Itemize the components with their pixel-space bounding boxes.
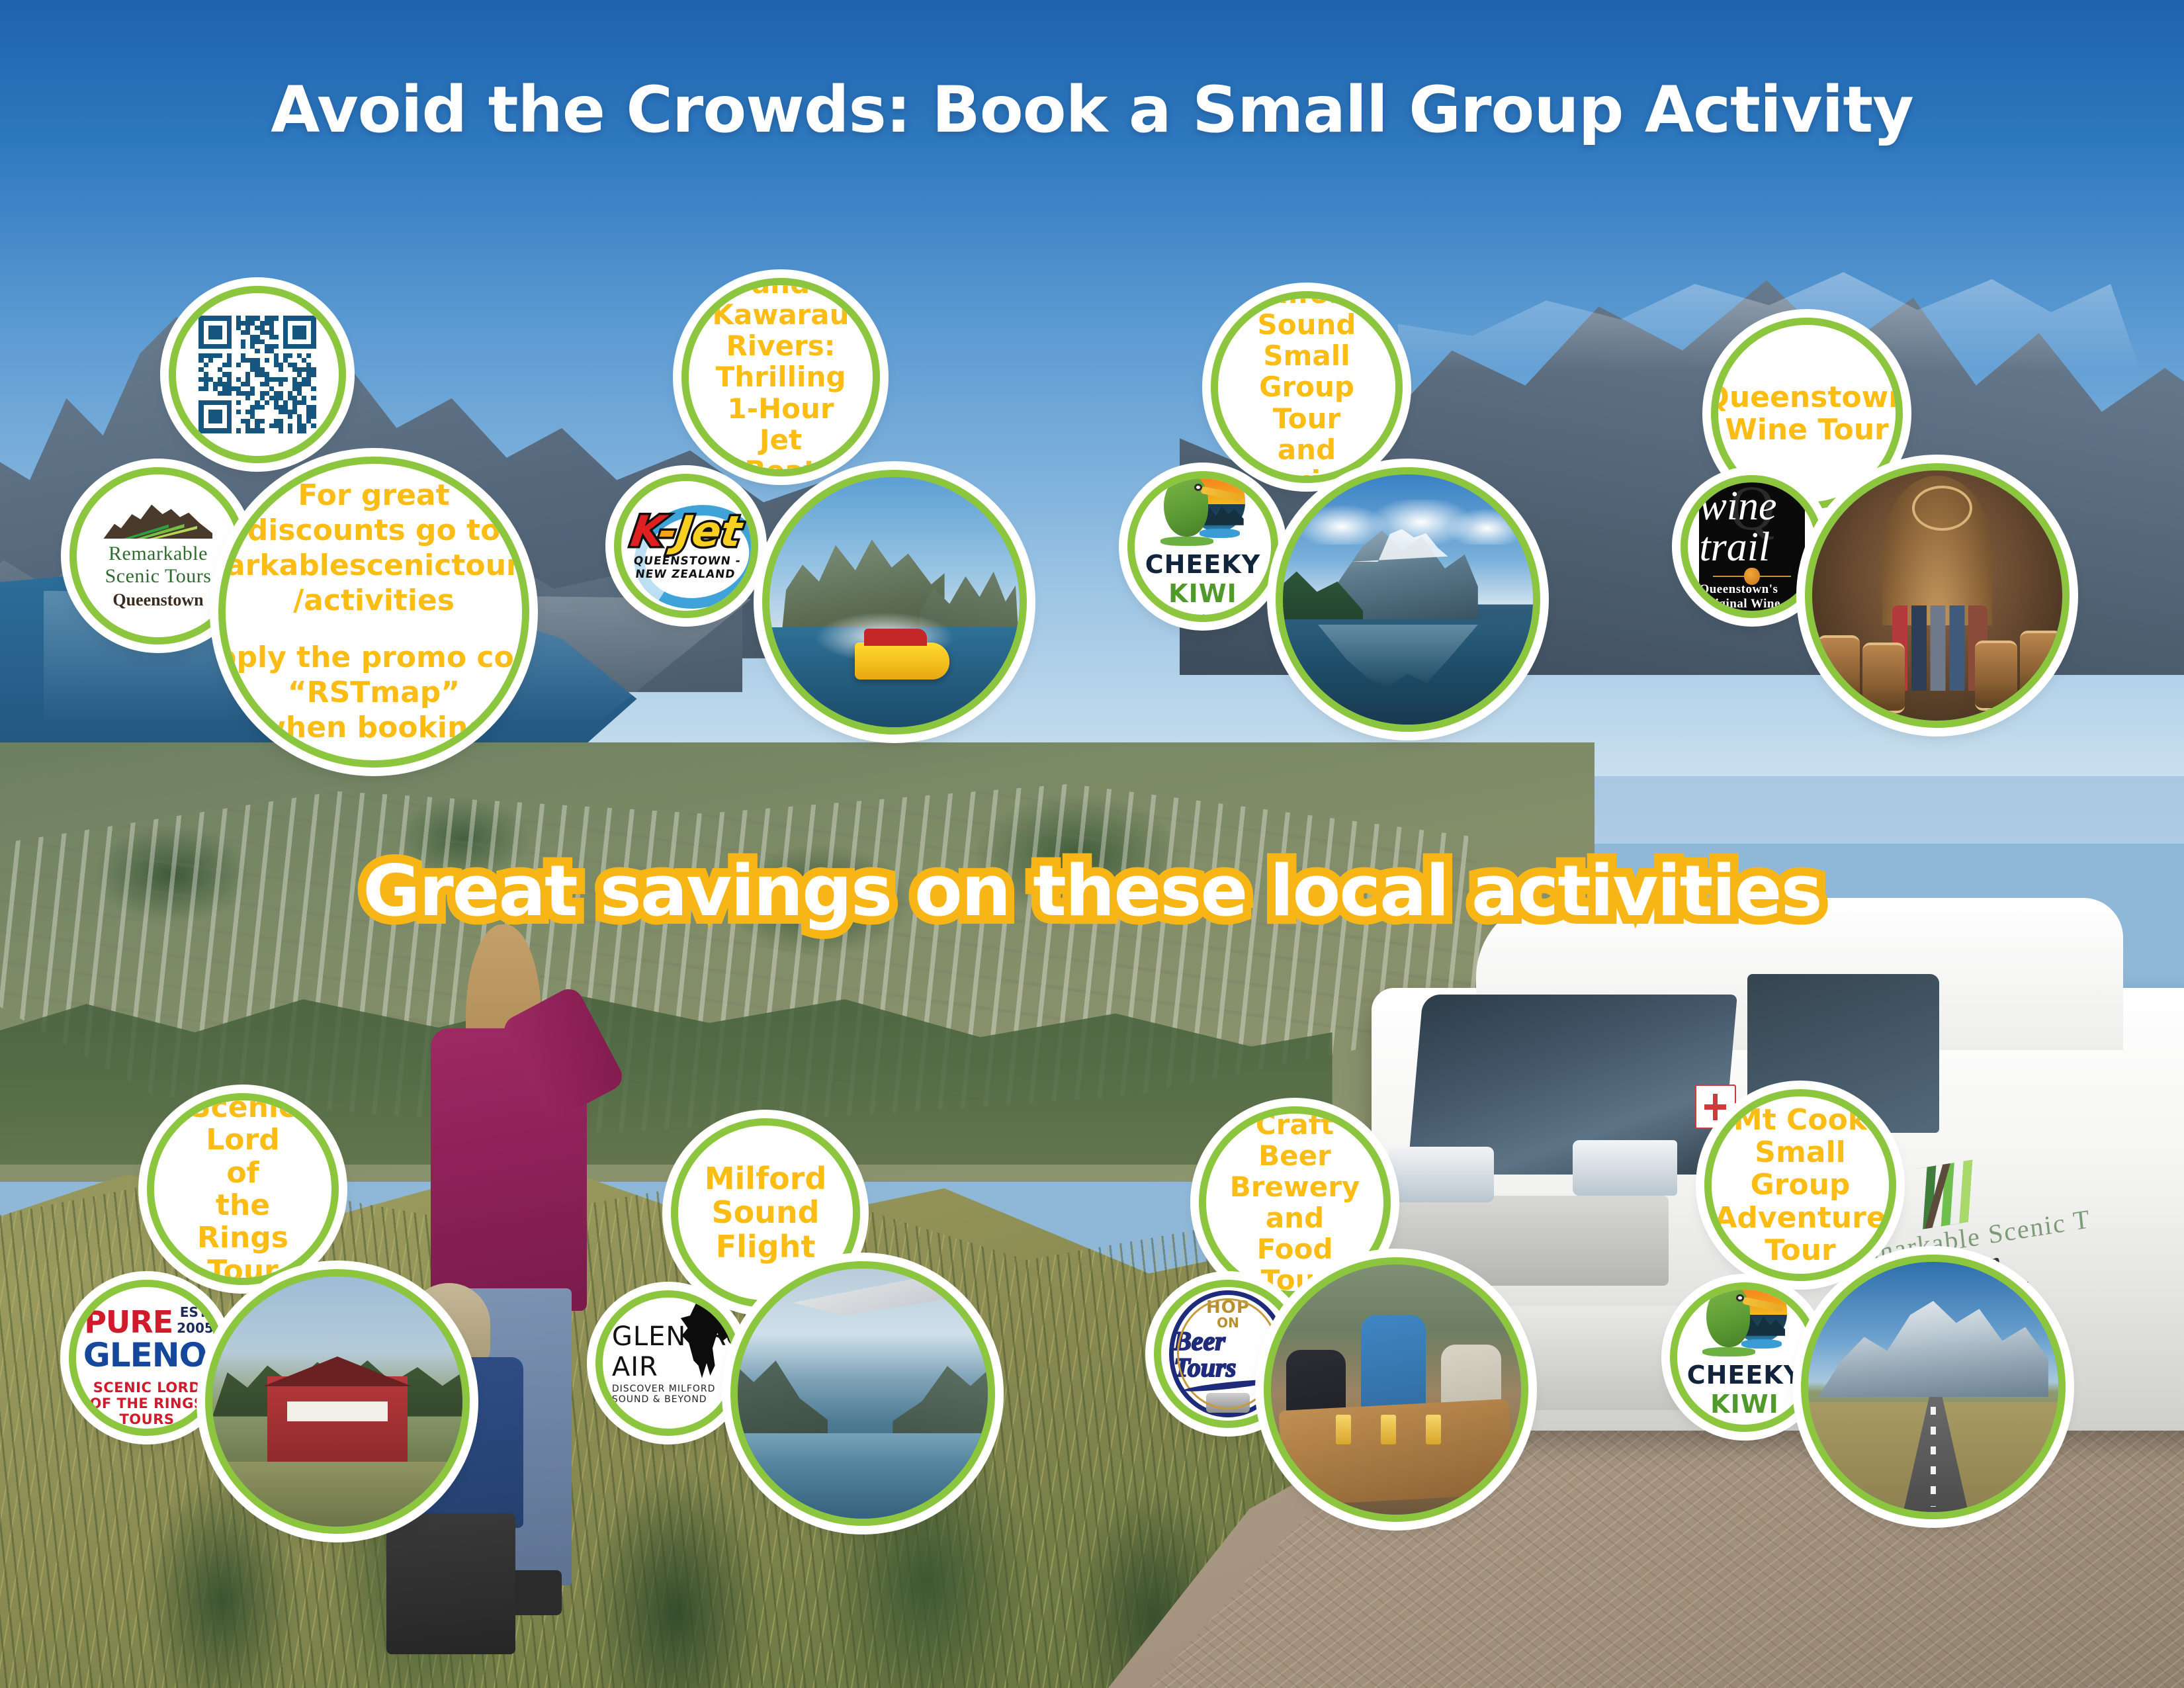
operator-logo-location: Queenstown: [88, 590, 228, 610]
activity-title-milford-cruise[interactable]: Milford Sound Small Group Tour and Cruis…: [1211, 291, 1403, 483]
logo-bubble-kjet[interactable]: K-Jet QUEENSTOWN - NEW ZEALAND: [614, 474, 758, 618]
activity-photo-milford-flight[interactable]: [730, 1261, 995, 1526]
activity-title-milford-flight-text: Milford Sound Flight: [705, 1162, 827, 1265]
glenorchy-air-logo: GLENORCHY AIR DISCOVER MILFORD SOUND & B…: [604, 1321, 732, 1405]
person2-pants: [386, 1513, 515, 1654]
logo-bubble-pure-glenorchy[interactable]: PURE ~ EST. 2005 GLENORCHY SCENIC LORD O…: [69, 1280, 225, 1436]
kjet-logo: K-Jet QUEENSTOWN - NEW ZEALAND: [629, 511, 743, 581]
mt-cook-road-photo: [1808, 1262, 2058, 1512]
activity-photo-beer-tour[interactable]: [1264, 1257, 1528, 1522]
activity-photo-wine-tour[interactable]: [1805, 463, 2070, 728]
mountain-logo-icon: [103, 502, 212, 539]
kiwi-word: KIWI: [1168, 579, 1237, 608]
cheeky-word: CHEEKY: [1145, 550, 1261, 579]
qr-code-bubble[interactable]: [169, 286, 346, 463]
title-line: Beer Brewery: [1230, 1140, 1360, 1202]
logo-bubble-wine-trail[interactable]: Q QUEENSTOWN wine trail Queenstown's Ori…: [1681, 475, 1823, 618]
kiwi-bird-icon: [1158, 471, 1247, 546]
glenorchy-shed-photo: [212, 1276, 462, 1527]
activity-title-mt-cook[interactable]: Mt Cook Small Group Adventure Tour: [1704, 1089, 1896, 1281]
activity-title-milford-cruise-text: Milford Sound Small Group Tour and Cruis…: [1251, 291, 1363, 483]
brewery-tasting-photo: [1271, 1265, 1521, 1515]
promo-line-4: /activities: [218, 584, 529, 619]
title-line: Group Tour: [1251, 371, 1363, 433]
fiord-from-plane-photo: [738, 1268, 988, 1519]
kiwi-bird-icon: [1701, 1282, 1789, 1356]
qr-code[interactable]: [198, 316, 316, 433]
activity-title-jet-boat[interactable]: Shotover and Kawarau Rivers: Thrilling 1…: [681, 278, 880, 476]
title-line: Lord of: [190, 1124, 296, 1189]
wine-cellar-photo: [1812, 470, 2062, 721]
kiwi-word: KIWI: [1710, 1390, 1779, 1419]
logo-bubble-glenorchy-air[interactable]: GLENORCHY AIR DISCOVER MILFORD SOUND & B…: [595, 1290, 741, 1436]
kjet-wordmark: K-Jet: [626, 511, 746, 553]
promo-spacer: [218, 618, 529, 641]
van-headlight-right: [1573, 1140, 1677, 1196]
cheeky-word: CHEEKY: [1687, 1360, 1803, 1390]
activity-photo-milford-cruise[interactable]: [1276, 467, 1540, 732]
pure-glenorchy-row: PURE ~ EST. 2005: [83, 1288, 211, 1340]
cheeky-kiwi-wordmark: CHEEKY KIWI: [1685, 1360, 1804, 1419]
poster-canvas: Remarkable Scenic T Queenstown Tel: (03)…: [0, 0, 2184, 1688]
savings-banner: Great savings on these local activities: [0, 850, 2184, 932]
cheeky-kiwi-logo: CHEEKY KIWI TRAVEL: [1143, 471, 1262, 622]
logo-bubble-cheeky-kiwi-bottom[interactable]: CHEEKY KIWI TRAVEL: [1670, 1282, 1819, 1432]
queenstown-wine-trail-logo: Q QUEENSTOWN wine trail Queenstown's Ori…: [1699, 475, 1804, 618]
poster-title: Avoid the Crowds: Book a Small Group Act…: [0, 73, 2184, 147]
title-line: Wine Tour: [1711, 414, 1903, 446]
promo-line-6: “RSTmap”: [218, 676, 529, 711]
pure-word: PURE: [84, 1304, 173, 1340]
title-line: Small Group: [1714, 1136, 1886, 1202]
title-line: Queenstown: [1711, 381, 1903, 414]
title-line: the Rings: [190, 1189, 296, 1255]
wine-trail-rule: [1713, 576, 1791, 577]
logo-bubble-cheeky-kiwi-top[interactable]: CHEEKY KIWI TRAVEL: [1127, 471, 1278, 622]
jet-boat-photo: [769, 477, 1020, 727]
activity-photo-mt-cook[interactable]: [1801, 1255, 2066, 1519]
promo-line-5: Apply the promo code: [218, 641, 529, 676]
kjet-jet: Jet: [673, 508, 744, 556]
glenorchy-air-tagline: DISCOVER MILFORD SOUND & BEYOND: [612, 1384, 732, 1405]
kjet-tagline: QUEENSTOWN - NEW ZEALAND: [627, 555, 745, 581]
title-line: Milford: [705, 1162, 827, 1196]
title-line: Sound: [705, 1196, 827, 1230]
title-line: Sound Small: [1251, 309, 1363, 371]
activity-title-lotr[interactable]: Scenic Lord of the Rings Tour: [147, 1093, 339, 1285]
cheeky-kiwi-wordmark: CHEEKY KIWI: [1143, 550, 1262, 608]
activity-photo-lotr[interactable]: [205, 1269, 470, 1534]
activity-title-mt-cook-text: Mt Cook Small Group Adventure Tour: [1714, 1104, 1886, 1266]
savings-banner-text: Great savings on these local activities: [363, 850, 1821, 932]
title-line: 1-Hour Jet: [710, 393, 852, 455]
van-headlight-left: [1389, 1147, 1493, 1202]
wine-trail-mid: wine trail: [1699, 486, 1804, 568]
title-line: Adventure: [1714, 1202, 1886, 1234]
activity-title-wine-tour-text: Queenstown Wine Tour: [1711, 381, 1903, 447]
remarkable-scenic-tours-logo: Remarkable Scenic Tours Queenstown: [88, 502, 228, 610]
pure-glenorchy-tagline: SCENIC LORD OF THE RINGS TOURS: [83, 1380, 211, 1427]
cheeky-kiwi-logo: CHEEKY KIWI TRAVEL: [1685, 1282, 1804, 1432]
activity-photo-jet-boat[interactable]: [762, 470, 1027, 734]
title-line: and Food: [1230, 1202, 1360, 1265]
promo-text: For great discounts go to remarkablescen…: [218, 478, 529, 746]
operator-logo-name: Remarkable Scenic Tours: [88, 543, 228, 588]
title-line: Rivers: Thrilling: [710, 330, 852, 392]
promo-line-3: remarkablescenictours.nz: [218, 549, 529, 584]
activity-title-jet-boat-text: Shotover and Kawarau Rivers: Thrilling 1…: [710, 278, 852, 476]
promo-line-2: discounts go to: [218, 513, 529, 549]
pure-glenorchy-logo: PURE ~ EST. 2005 GLENORCHY SCENIC LORD O…: [83, 1288, 211, 1427]
glenorchy-word: GLENORCHY: [83, 1336, 211, 1374]
activity-title-lotr-text: Scenic Lord of the Rings Tour: [190, 1093, 296, 1285]
promo-bubble[interactable]: For great discounts go to remarkablescen…: [218, 457, 529, 768]
milford-sound-photo: [1283, 474, 1533, 725]
title-line: Flight: [705, 1230, 827, 1265]
